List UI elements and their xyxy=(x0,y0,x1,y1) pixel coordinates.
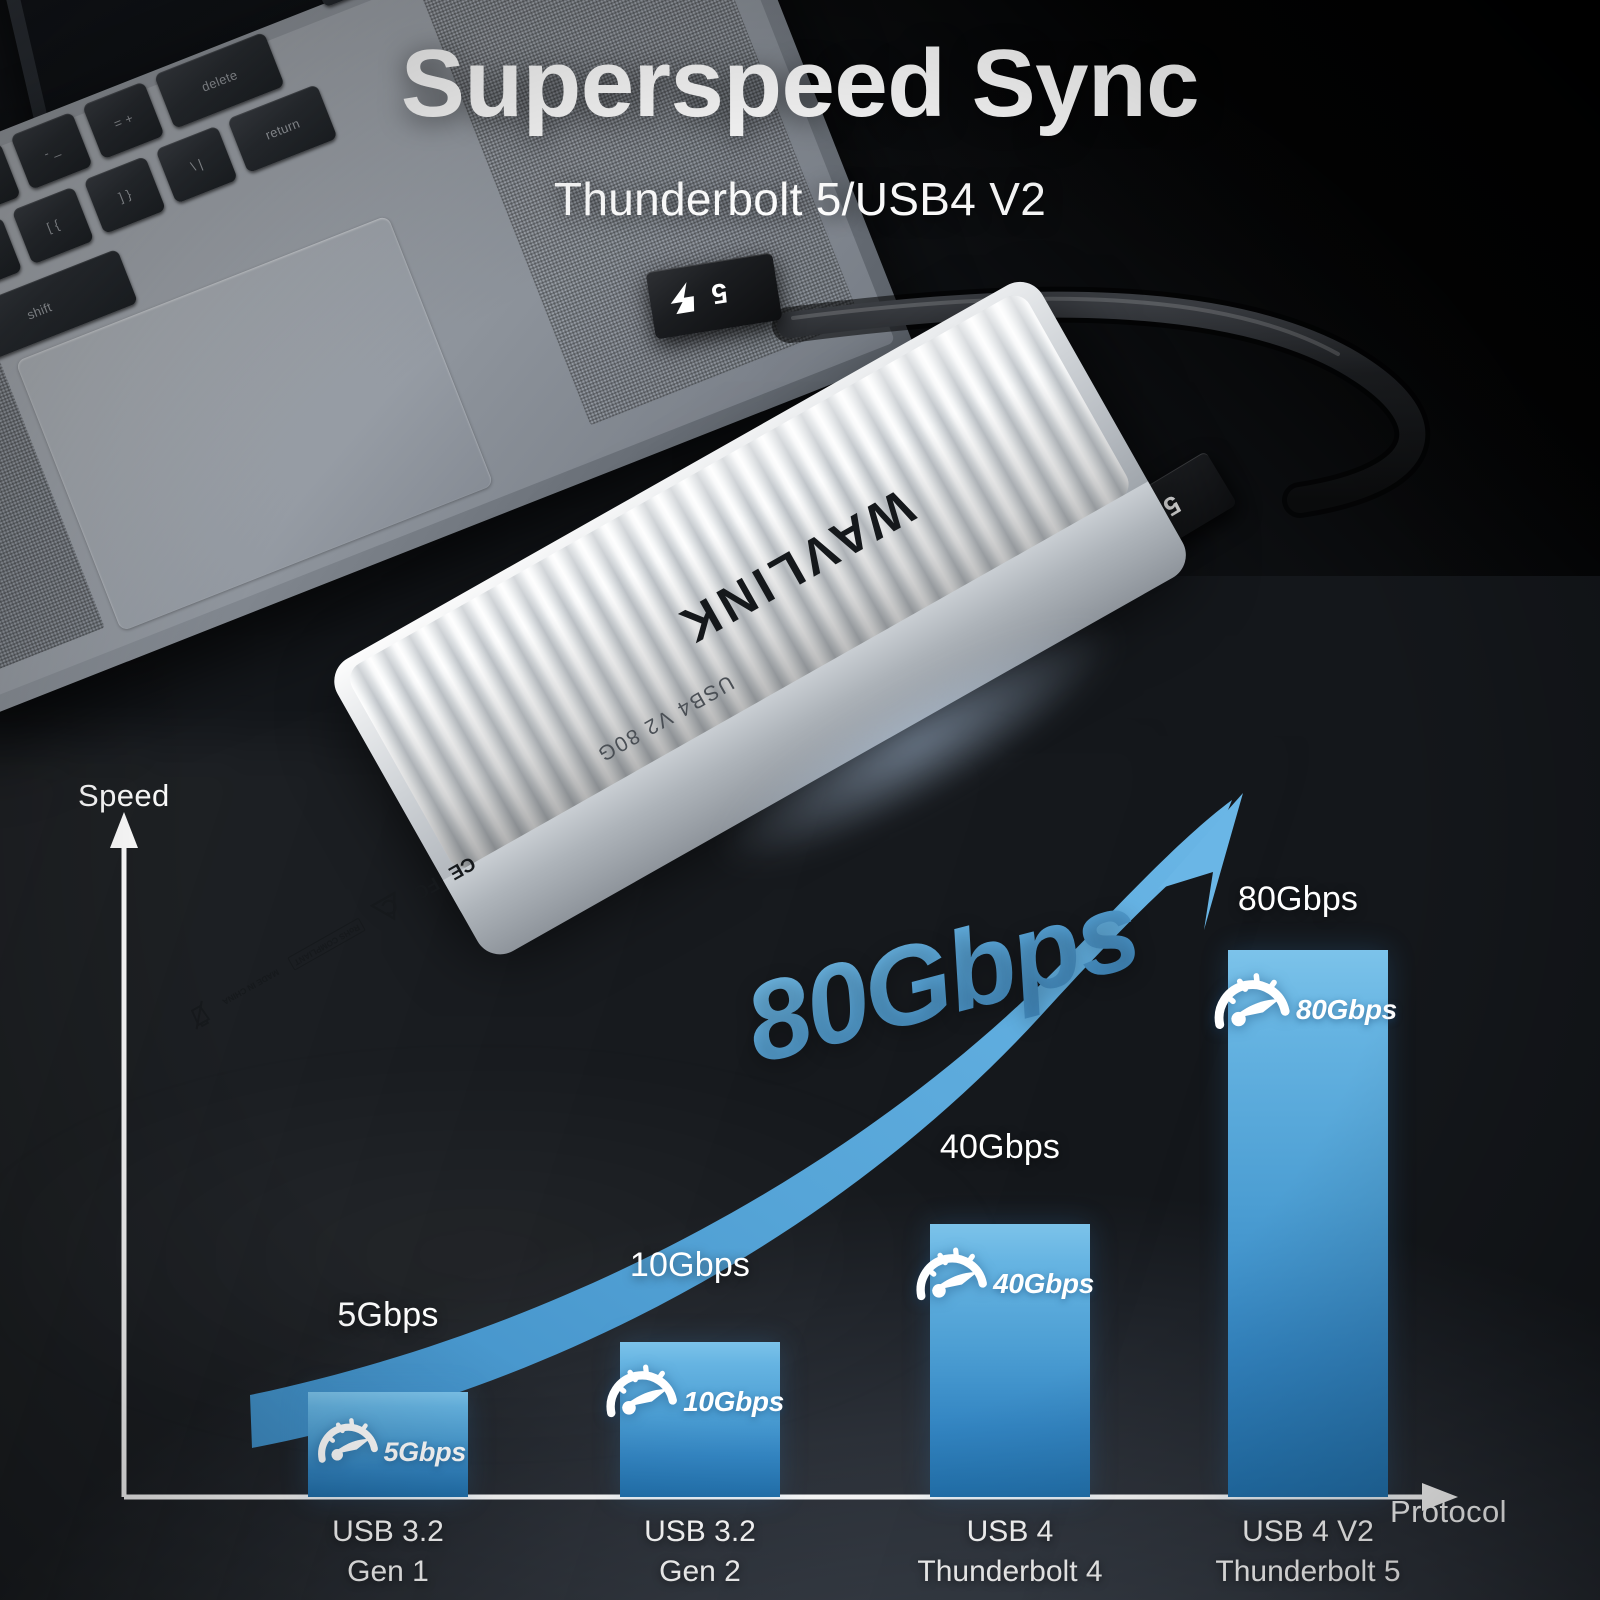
speed-badge-text-3: 40Gbps xyxy=(993,1268,1094,1300)
x-tick-line-4b: Thunderbolt 5 xyxy=(1178,1552,1438,1592)
y-axis-label: Speed xyxy=(78,778,170,814)
speed-badge-2: 10Gbps xyxy=(604,1346,784,1422)
x-tick-label-4: USB 4 V2 Thunderbolt 5 xyxy=(1178,1512,1438,1591)
x-tick-line-3b: Thunderbolt 4 xyxy=(880,1552,1140,1592)
x-tick-label-3: USB 4 Thunderbolt 4 xyxy=(880,1512,1140,1591)
speedometer-icon-2 xyxy=(604,1354,681,1422)
speed-badge-text-1: 5Gbps xyxy=(383,1437,466,1468)
bar-value-label-1: 5Gbps xyxy=(308,1296,468,1335)
bar-value-label-2: 10Gbps xyxy=(600,1246,780,1285)
x-tick-label-1: USB 3.2 Gen 1 xyxy=(278,1512,498,1591)
x-tick-line-4a: USB 4 V2 xyxy=(1178,1512,1438,1552)
bar-value-label-3: 40Gbps xyxy=(910,1128,1090,1167)
x-tick-line-1a: USB 3.2 xyxy=(278,1512,498,1552)
speed-badge-text-4: 80Gbps xyxy=(1296,994,1397,1026)
speed-comparison-chart: Speed Protocol 5Gbps 5Gbps USB 3.2 Gen 1… xyxy=(0,0,1600,1600)
x-tick-line-3a: USB 4 xyxy=(880,1512,1140,1552)
x-tick-line-1b: Gen 1 xyxy=(278,1552,498,1592)
speed-badge-3: 40Gbps xyxy=(914,1228,1094,1306)
speedometer-icon-1 xyxy=(316,1406,381,1470)
bar-value-label-4: 80Gbps xyxy=(1208,880,1388,919)
product-marketing-image: Safari Histoy.jpg 🔇 ♫ – 9 ) 0 ) - _ = + … xyxy=(0,0,1600,1600)
speedometer-icon-3 xyxy=(914,1236,991,1306)
x-tick-line-2b: Gen 2 xyxy=(590,1552,810,1592)
speed-badge-4: 80Gbps xyxy=(1212,954,1398,1034)
speed-badge-text-2: 10Gbps xyxy=(683,1386,784,1418)
x-tick-line-2a: USB 3.2 xyxy=(590,1512,810,1552)
x-tick-label-2: USB 3.2 Gen 2 xyxy=(590,1512,810,1591)
speedometer-icon-4 xyxy=(1212,962,1294,1034)
speed-badge-1: 5Gbps xyxy=(316,1398,466,1470)
